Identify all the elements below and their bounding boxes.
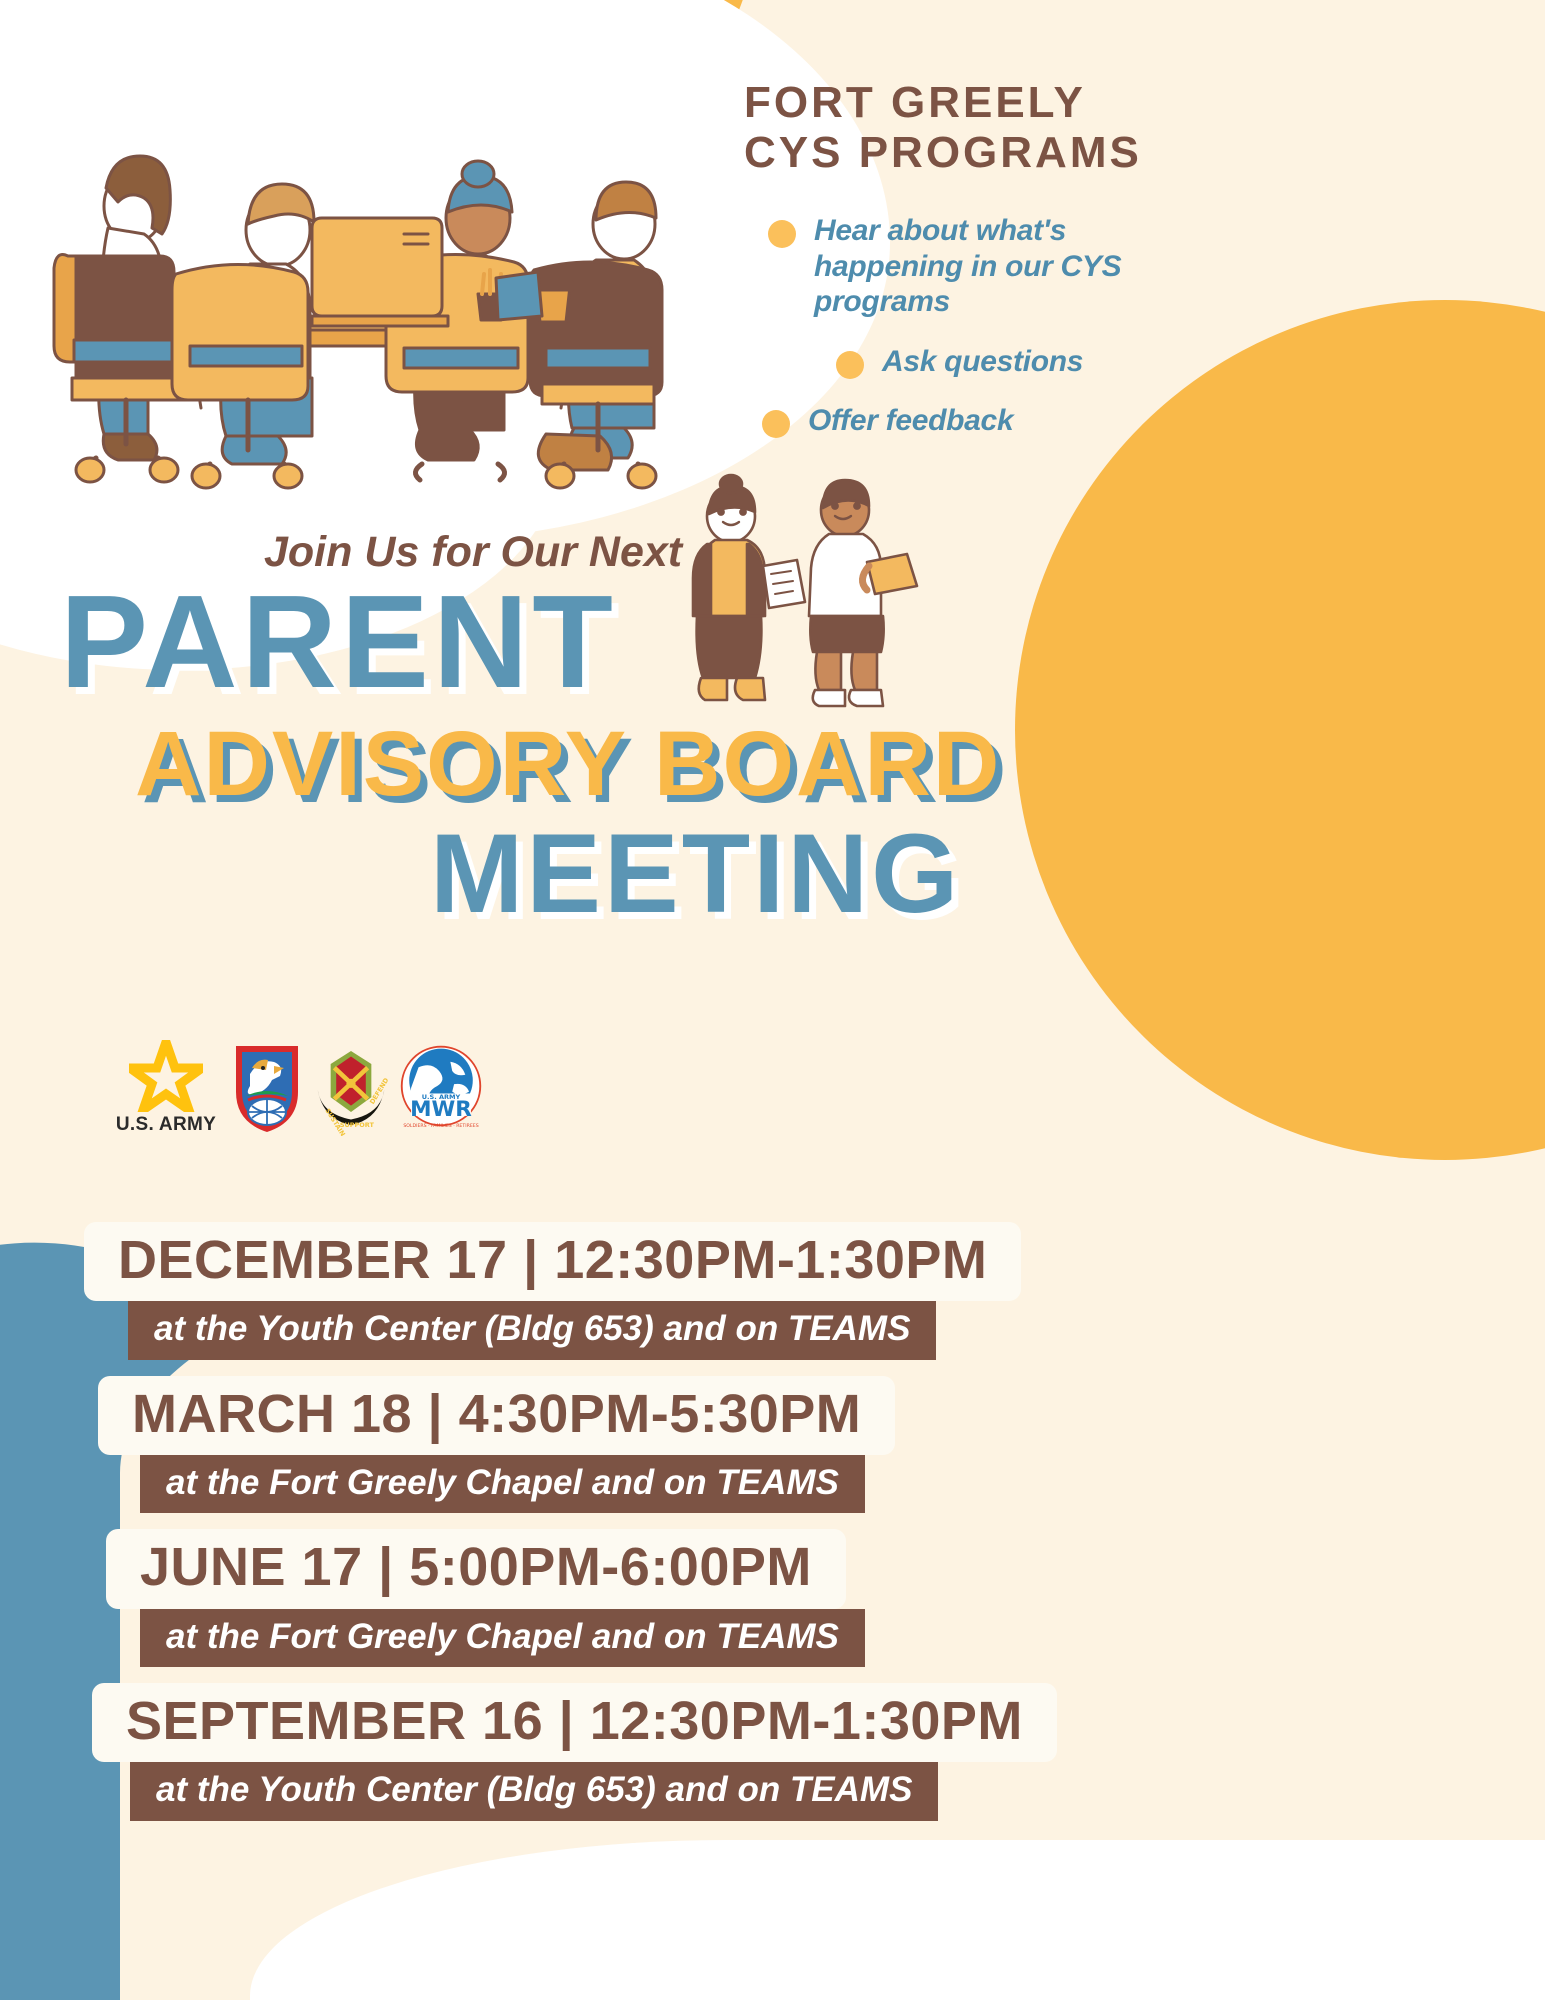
- title-line-advisory-board: ADVISORY BOARD: [135, 718, 1001, 810]
- schedule-location: at the Fort Greely Chapel and on TEAMS: [140, 1455, 865, 1514]
- bullet-dot-icon: [768, 220, 796, 248]
- schedule-date: JUNE 17 | 5:00PM-6:00PM: [106, 1529, 846, 1608]
- benefit-label: Hear about what's happening in our CYS p…: [814, 213, 1144, 319]
- schedule-row: DECEMBER 17 | 12:30PM-1:30PM at the Yout…: [0, 1222, 1545, 1360]
- army-star-icon: [129, 1040, 203, 1112]
- org-line-1: FORT GREELY: [744, 78, 1514, 128]
- org-name: FORT GREELY CYS PROGRAMS: [744, 78, 1514, 177]
- schedule-row: JUNE 17 | 5:00PM-6:00PM at the Fort Gree…: [0, 1529, 1545, 1667]
- schedule-row: MARCH 18 | 4:30PM-5:30PM at the Fort Gre…: [0, 1376, 1545, 1514]
- schedule-date: MARCH 18 | 4:30PM-5:30PM: [98, 1376, 895, 1455]
- svg-text:MWR: MWR: [410, 1097, 472, 1122]
- svg-text:SOLDIERS · FAMILIES · RETIREES: SOLDIERS · FAMILIES · RETIREES: [403, 1123, 478, 1129]
- schedule-row: SEPTEMBER 16 | 12:30PM-1:30PM at the You…: [0, 1683, 1545, 1821]
- schedule-date: DECEMBER 17 | 12:30PM-1:30PM: [84, 1222, 1021, 1301]
- schedule-location: at the Youth Center (Bldg 653) and on TE…: [130, 1762, 938, 1821]
- benefit-item: Offer feedback: [762, 403, 1514, 438]
- army-label: U.S. ARMY: [116, 1114, 216, 1136]
- imcom-sustain-support-defend-crest: SUSTAIN SUPPORT DEFEND: [314, 1040, 388, 1136]
- benefit-item: Ask questions: [836, 344, 1514, 379]
- schedule-location: at the Youth Center (Bldg 653) and on TE…: [128, 1301, 936, 1360]
- us-army-star-logo: U.S. ARMY: [112, 1040, 220, 1136]
- logo-row: U.S. ARMY SUSTAIN SUPPORT DEFEND: [112, 1040, 484, 1136]
- flyer-canvas: FORT GREELY CYS PROGRAMS Hear about what…: [0, 0, 1545, 2000]
- schedule-date: SEPTEMBER 16 | 12:30PM-1:30PM: [92, 1683, 1057, 1762]
- benefit-label: Offer feedback: [808, 403, 1013, 438]
- schedule-location: at the Fort Greely Chapel and on TEAMS: [140, 1609, 865, 1668]
- org-line-2: CYS PROGRAMS: [744, 128, 1514, 178]
- imcom-eagle-shield-logo: [230, 1040, 304, 1136]
- adults-meeting-illustration: [26, 78, 726, 498]
- header-block: FORT GREELY CYS PROGRAMS Hear about what…: [744, 78, 1514, 462]
- benefit-label: Ask questions: [882, 344, 1083, 379]
- kids-illustration: [645, 470, 925, 720]
- svg-text:SUPPORT: SUPPORT: [340, 1121, 375, 1129]
- title-line-parent: PARENT: [60, 576, 617, 708]
- benefits-list: Hear about what's happening in our CYS p…: [744, 213, 1514, 438]
- benefit-item: Hear about what's happening in our CYS p…: [768, 213, 1514, 319]
- us-army-mwr-logo: U.S. ARMY MWR SOLDIERS · FAMILIES · RETI…: [398, 1040, 484, 1132]
- meeting-schedule: DECEMBER 17 | 12:30PM-1:30PM at the Yout…: [0, 1222, 1545, 1827]
- title-line-meeting: MEETING: [430, 818, 961, 930]
- bullet-dot-icon: [836, 351, 864, 379]
- bullet-dot-icon: [762, 410, 790, 438]
